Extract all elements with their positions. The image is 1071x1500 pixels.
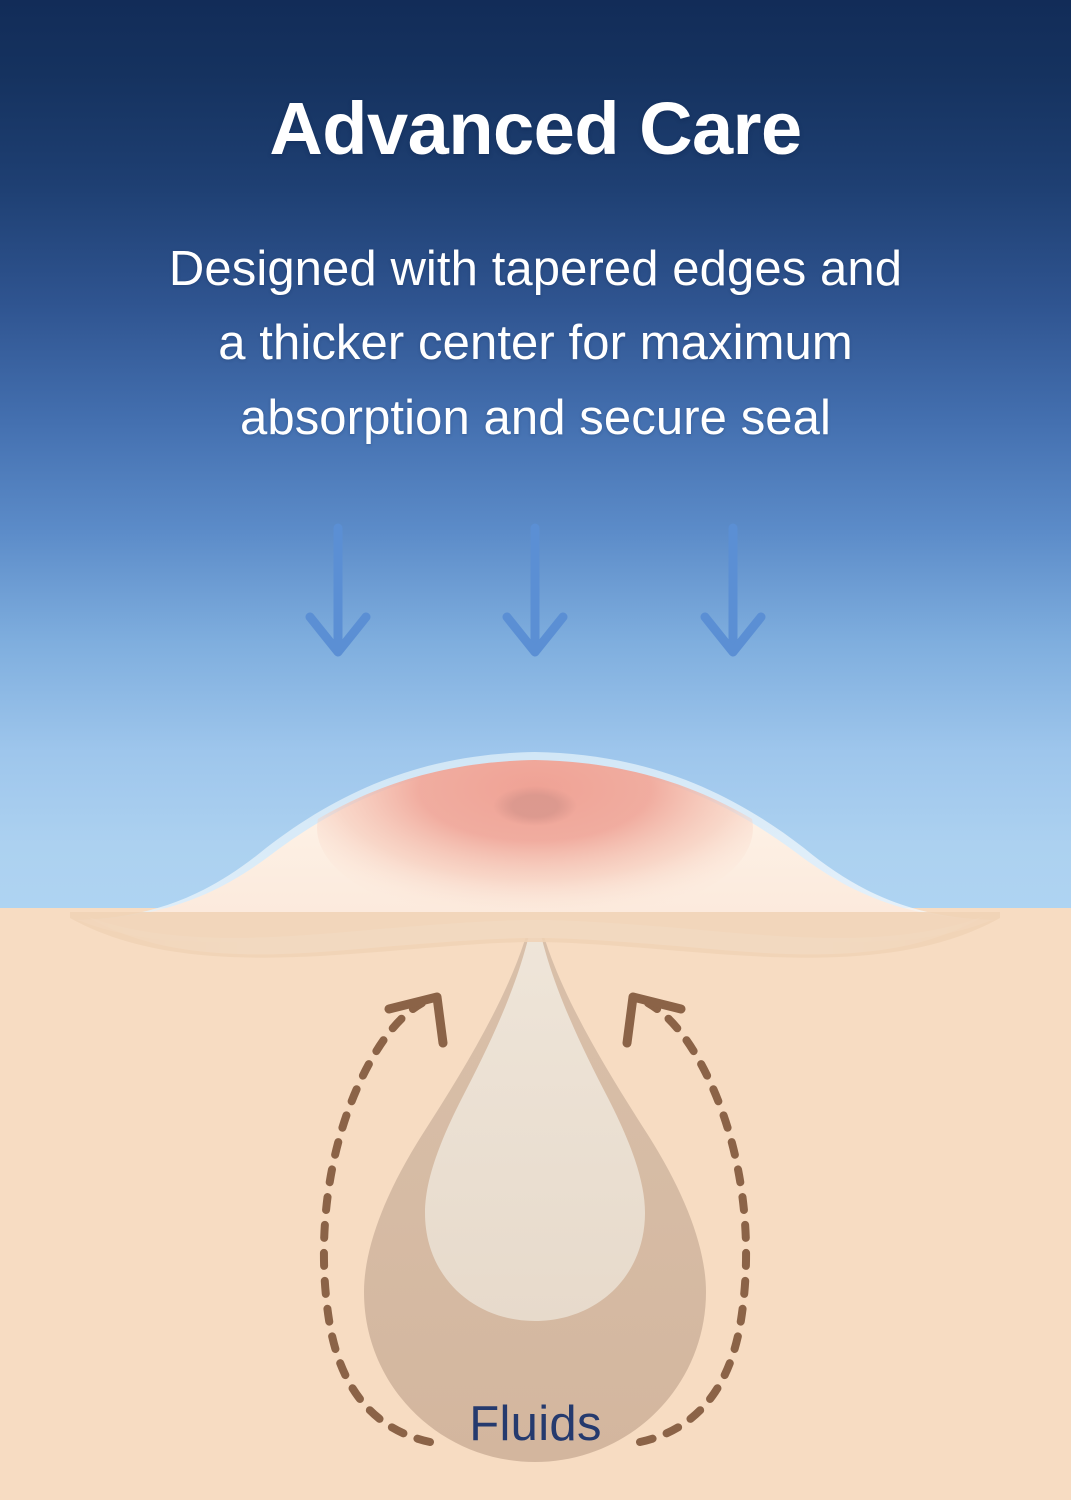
fluids-label: Fluids	[0, 1400, 1071, 1449]
subtitle-block: Designed with tapered edges and a thicke…	[0, 232, 1071, 455]
wound-care-diagram	[0, 0, 1071, 1500]
subtitle-line-2: a thicker center for maximum	[0, 306, 1071, 380]
illustration-canvas: Advanced Care Designed with tapered edge…	[0, 0, 1071, 1500]
page-title: Advanced Care	[0, 92, 1071, 166]
wound-center-spot	[493, 786, 577, 826]
subtitle-line-1: Designed with tapered edges and	[0, 232, 1071, 306]
subtitle-line-3: absorption and secure seal	[0, 381, 1071, 455]
